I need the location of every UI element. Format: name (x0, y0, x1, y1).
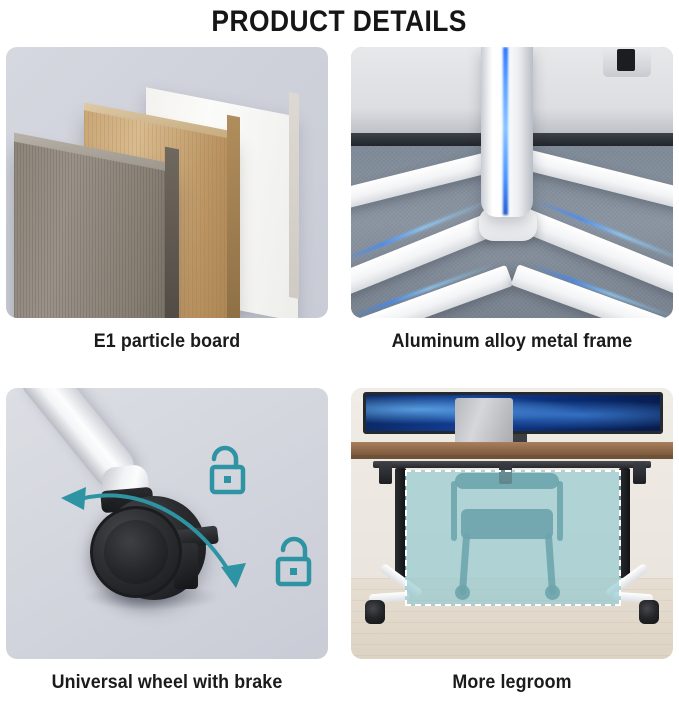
caption-metal-frame: Aluminum alloy metal frame (361, 318, 664, 366)
curved-double-arrow (74, 495, 230, 573)
desk-bracket-right (633, 462, 646, 484)
detail-cell-metal-frame: Aluminum alloy metal frame (351, 47, 673, 366)
detail-cell-more-legroom: More legroom (351, 388, 673, 707)
desk-bracket-left (379, 462, 392, 484)
desk-caster-left (365, 600, 385, 624)
legroom-highlight-area (405, 470, 621, 606)
monitor (363, 392, 663, 434)
desktop-edge (351, 455, 673, 459)
page-title: PRODUCT DETAILS (212, 5, 467, 39)
universal-wheel-image (6, 388, 328, 659)
caption-universal-wheel: Universal wheel with brake (16, 659, 319, 707)
particle-board-image (6, 47, 328, 318)
arrow-head-down (221, 563, 246, 588)
white-board-edge (289, 92, 299, 299)
lock-toggle-graphic (6, 388, 328, 659)
arrow-head-left (61, 487, 86, 510)
desk-caster-right (639, 600, 659, 624)
detail-cell-universal-wheel: Universal wheel with brake (6, 388, 328, 707)
header: PRODUCT DETAILS (0, 0, 679, 44)
caption-particle-board: E1 particle board (16, 318, 319, 366)
lock-icon (278, 539, 309, 584)
more-legroom-image (351, 388, 673, 659)
desk-frame-bar (373, 461, 651, 468)
detail-cell-particle-board: E1 particle board (6, 47, 328, 366)
desktop-surface (351, 442, 673, 455)
gray-board-edge (165, 147, 179, 318)
column-blue-highlight (503, 47, 508, 215)
product-details-page: PRODUCT DETAILS E1 particle board (0, 0, 679, 673)
caption-more-legroom: More legroom (361, 659, 664, 707)
gray-board (14, 141, 174, 318)
details-grid: E1 particle board (6, 47, 673, 707)
equipment-box-screen (617, 49, 635, 71)
metal-frame-image (351, 47, 673, 318)
laptop (455, 398, 513, 446)
oak-board-edge (227, 115, 240, 318)
unlock-icon (212, 448, 243, 492)
